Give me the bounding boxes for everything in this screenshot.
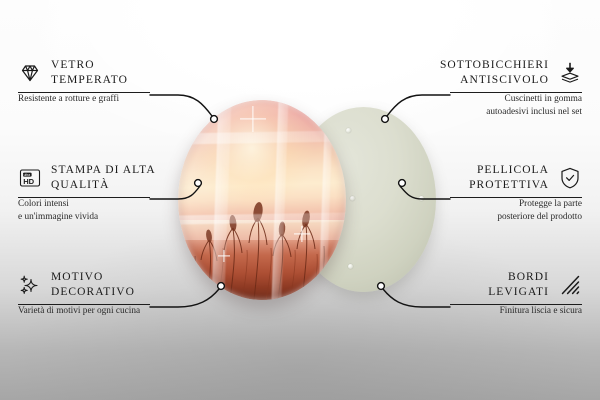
callout-header: SOTTOBICCHIERI ANTISCIVOLO: [440, 58, 582, 88]
diamond-icon: [18, 61, 42, 85]
callout-subtitle-line2: posteriore del prodotto: [450, 211, 582, 224]
callout-subtitle: Protegge la parte posteriore del prodott…: [450, 198, 582, 223]
glass-edge-highlight: [178, 100, 346, 300]
callout-title-line1: BORDI: [488, 270, 549, 285]
callout-subtitle: Finitura liscia e sicura: [450, 305, 582, 318]
callout-motivo-decorativo: MOTIVO DECORATIVO Varietà di motivi per …: [18, 270, 150, 318]
callout-title: MOTIVO DECORATIVO: [51, 270, 135, 300]
ultra-hd-icon: ultra HD: [18, 166, 42, 190]
coaster-artwork-sunset-grass: [178, 100, 346, 300]
diagonal-lines-icon: [558, 273, 582, 297]
callout-title: BORDI LEVIGATI: [488, 270, 549, 300]
callout-title-line2: LEVIGATI: [488, 285, 549, 300]
callout-subtitle-line2: autoadesivi inclusi nel set: [440, 106, 582, 119]
callout-title-line2: ANTISCIVOLO: [440, 73, 549, 88]
svg-text:HD: HD: [23, 177, 34, 186]
callout-stampa-alta-qualita: ultra HD STAMPA DI ALTA QUALITÀ Colori i…: [18, 163, 156, 223]
callout-title-line1: VETRO: [51, 58, 128, 73]
callout-subtitle-line1: Cuscinetti in gomma: [440, 93, 582, 106]
callout-header: VETRO TEMPERATO: [18, 58, 150, 88]
rubber-pad: [346, 128, 351, 133]
callout-subtitle-line1: Protegge la parte: [450, 198, 582, 211]
callout-subtitle: Colori intensi e un'immagine vivida: [18, 198, 156, 223]
callout-title: SOTTOBICCHIERI ANTISCIVOLO: [440, 58, 549, 88]
callout-header: ultra HD STAMPA DI ALTA QUALITÀ: [18, 163, 156, 193]
callout-title-line1: PELLICOLA: [469, 163, 549, 178]
shield-check-icon: [558, 166, 582, 190]
callout-pellicola-protettiva: PELLICOLA PROTETTIVA Protegge la parte p…: [450, 163, 582, 223]
rubber-pad: [348, 264, 353, 269]
rubber-pad: [419, 196, 424, 201]
callout-title: VETRO TEMPERATO: [51, 58, 128, 88]
callout-title-line2: PROTETTIVA: [469, 178, 549, 193]
callout-title: STAMPA DI ALTA QUALITÀ: [51, 163, 156, 193]
callout-subtitle: Cuscinetti in gomma autoadesivi inclusi …: [440, 93, 582, 118]
coaster-front-disc: [178, 100, 346, 300]
rubber-pad: [350, 196, 355, 201]
callout-title-line2: QUALITÀ: [51, 178, 156, 193]
callout-subtitle-line2: e un'immagine vivida: [18, 211, 156, 224]
callout-subtitle: Resistente a rotture e graffi: [18, 93, 150, 106]
callout-subtitle-line1: Colori intensi: [18, 198, 156, 211]
product-image: [178, 100, 438, 300]
callout-title-line2: TEMPERATO: [51, 73, 128, 88]
callout-title-line2: DECORATIVO: [51, 285, 135, 300]
callout-title-line1: MOTIVO: [51, 270, 135, 285]
callout-header: PELLICOLA PROTETTIVA: [450, 163, 582, 193]
callout-header: MOTIVO DECORATIVO: [18, 270, 150, 300]
callout-title: PELLICOLA PROTETTIVA: [469, 163, 549, 193]
callout-bordi-levigati: BORDI LEVIGATI Finitura liscia e sicura: [450, 270, 582, 318]
callout-title-line1: SOTTOBICCHIERI: [440, 58, 549, 73]
stacked-pads-down-arrow-icon: [558, 61, 582, 85]
callout-title-line1: STAMPA DI ALTA: [51, 163, 156, 178]
infographic-canvas: VETRO TEMPERATO Resistente a rotture e g…: [0, 0, 600, 400]
sparkles-icon: [18, 273, 42, 297]
callout-header: BORDI LEVIGATI: [450, 270, 582, 300]
callout-vetro-temperato: VETRO TEMPERATO Resistente a rotture e g…: [18, 58, 150, 106]
callout-sottobicchieri-antiscivolo: SOTTOBICCHIERI ANTISCIVOLO Cuscinetti in…: [440, 58, 582, 118]
callout-subtitle: Varietà di motivi per ogni cucina: [18, 305, 150, 318]
